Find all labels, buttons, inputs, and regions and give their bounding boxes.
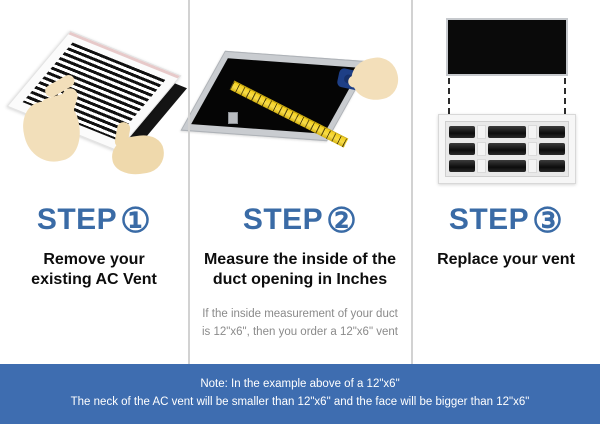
- grille-bar: [449, 160, 475, 172]
- step-number-circled-icon: ③: [532, 204, 563, 238]
- grille-post: [477, 159, 486, 173]
- vent-scene-1: [16, 26, 176, 186]
- step-heading-1: STEP①: [0, 204, 188, 238]
- step-title-line: duct opening in Inches: [194, 270, 406, 290]
- grille-bar: [539, 160, 565, 172]
- note-banner: Note: In the example above of a 12"x6" T…: [0, 364, 600, 424]
- grille-bar: [539, 143, 565, 155]
- grille-row: [449, 125, 565, 139]
- grille-post: [528, 159, 537, 173]
- grille-bar: [488, 126, 527, 138]
- tape-measure-duct-illustration: [188, 0, 412, 200]
- grille-bar: [539, 126, 565, 138]
- step-heading-2: STEP②: [188, 204, 412, 238]
- grille-post: [528, 142, 537, 156]
- vent-grille: [445, 121, 569, 177]
- grille-post: [477, 125, 486, 139]
- grille-bar: [449, 126, 475, 138]
- tape-hook-icon: [228, 112, 238, 124]
- step-label: STEP: [37, 203, 117, 236]
- alignment-guide-line: [448, 78, 450, 114]
- replace-vent-illustration: [412, 0, 600, 200]
- grille-post: [477, 142, 486, 156]
- step-number-circled-icon: ②: [326, 204, 357, 238]
- duct-scene-2: [198, 46, 404, 156]
- grille-post: [528, 125, 537, 139]
- grille-bar: [449, 143, 475, 155]
- grille-bar: [488, 160, 527, 172]
- grille-row: [449, 159, 565, 173]
- step-subtext-2: If the inside measurement of your duct i…: [188, 306, 412, 341]
- step-title-1: Remove your existing AC Vent: [0, 250, 188, 290]
- step-label: STEP: [449, 203, 529, 236]
- replacement-vent: [438, 114, 576, 184]
- step-label: STEP: [243, 203, 323, 236]
- duct-frame: [181, 51, 372, 141]
- hand-removing-vent-illustration: [0, 0, 188, 200]
- panel-divider: [411, 0, 413, 364]
- note-line-2: The neck of the AC vent will be smaller …: [71, 394, 530, 412]
- step-panel-1: STEP① Remove your existing AC Vent: [0, 0, 188, 364]
- steps-container: STEP① Remove your existing AC Vent: [0, 0, 600, 364]
- grille-row: [449, 142, 565, 156]
- step-heading-3: STEP③: [412, 204, 600, 238]
- step-title-line: Replace your vent: [418, 250, 594, 270]
- step-subtext-line: If the inside measurement of your duct: [198, 306, 402, 323]
- alignment-guide-line: [564, 78, 566, 114]
- duct-opening: [446, 18, 568, 76]
- step-title-3: Replace your vent: [412, 250, 600, 270]
- grille-bar: [488, 143, 527, 155]
- note-line-1: Note: In the example above of a 12"x6": [200, 376, 399, 394]
- replace-scene-3: [434, 12, 580, 188]
- step-title-line: Remove your: [6, 250, 182, 270]
- step-panel-2: STEP② Measure the inside of the duct ope…: [188, 0, 412, 364]
- step-title-line: Measure the inside of the: [194, 250, 406, 270]
- step-number-circled-icon: ①: [120, 204, 151, 238]
- panel-divider: [188, 0, 190, 364]
- step-title-2: Measure the inside of the duct opening i…: [188, 250, 412, 290]
- step-subtext-line: is 12"x6", then you order a 12"x6" vent: [198, 324, 402, 341]
- step-title-line: existing AC Vent: [6, 270, 182, 290]
- duct-hole: [191, 58, 361, 133]
- step-panel-3: STEP③ Replace your vent: [412, 0, 600, 364]
